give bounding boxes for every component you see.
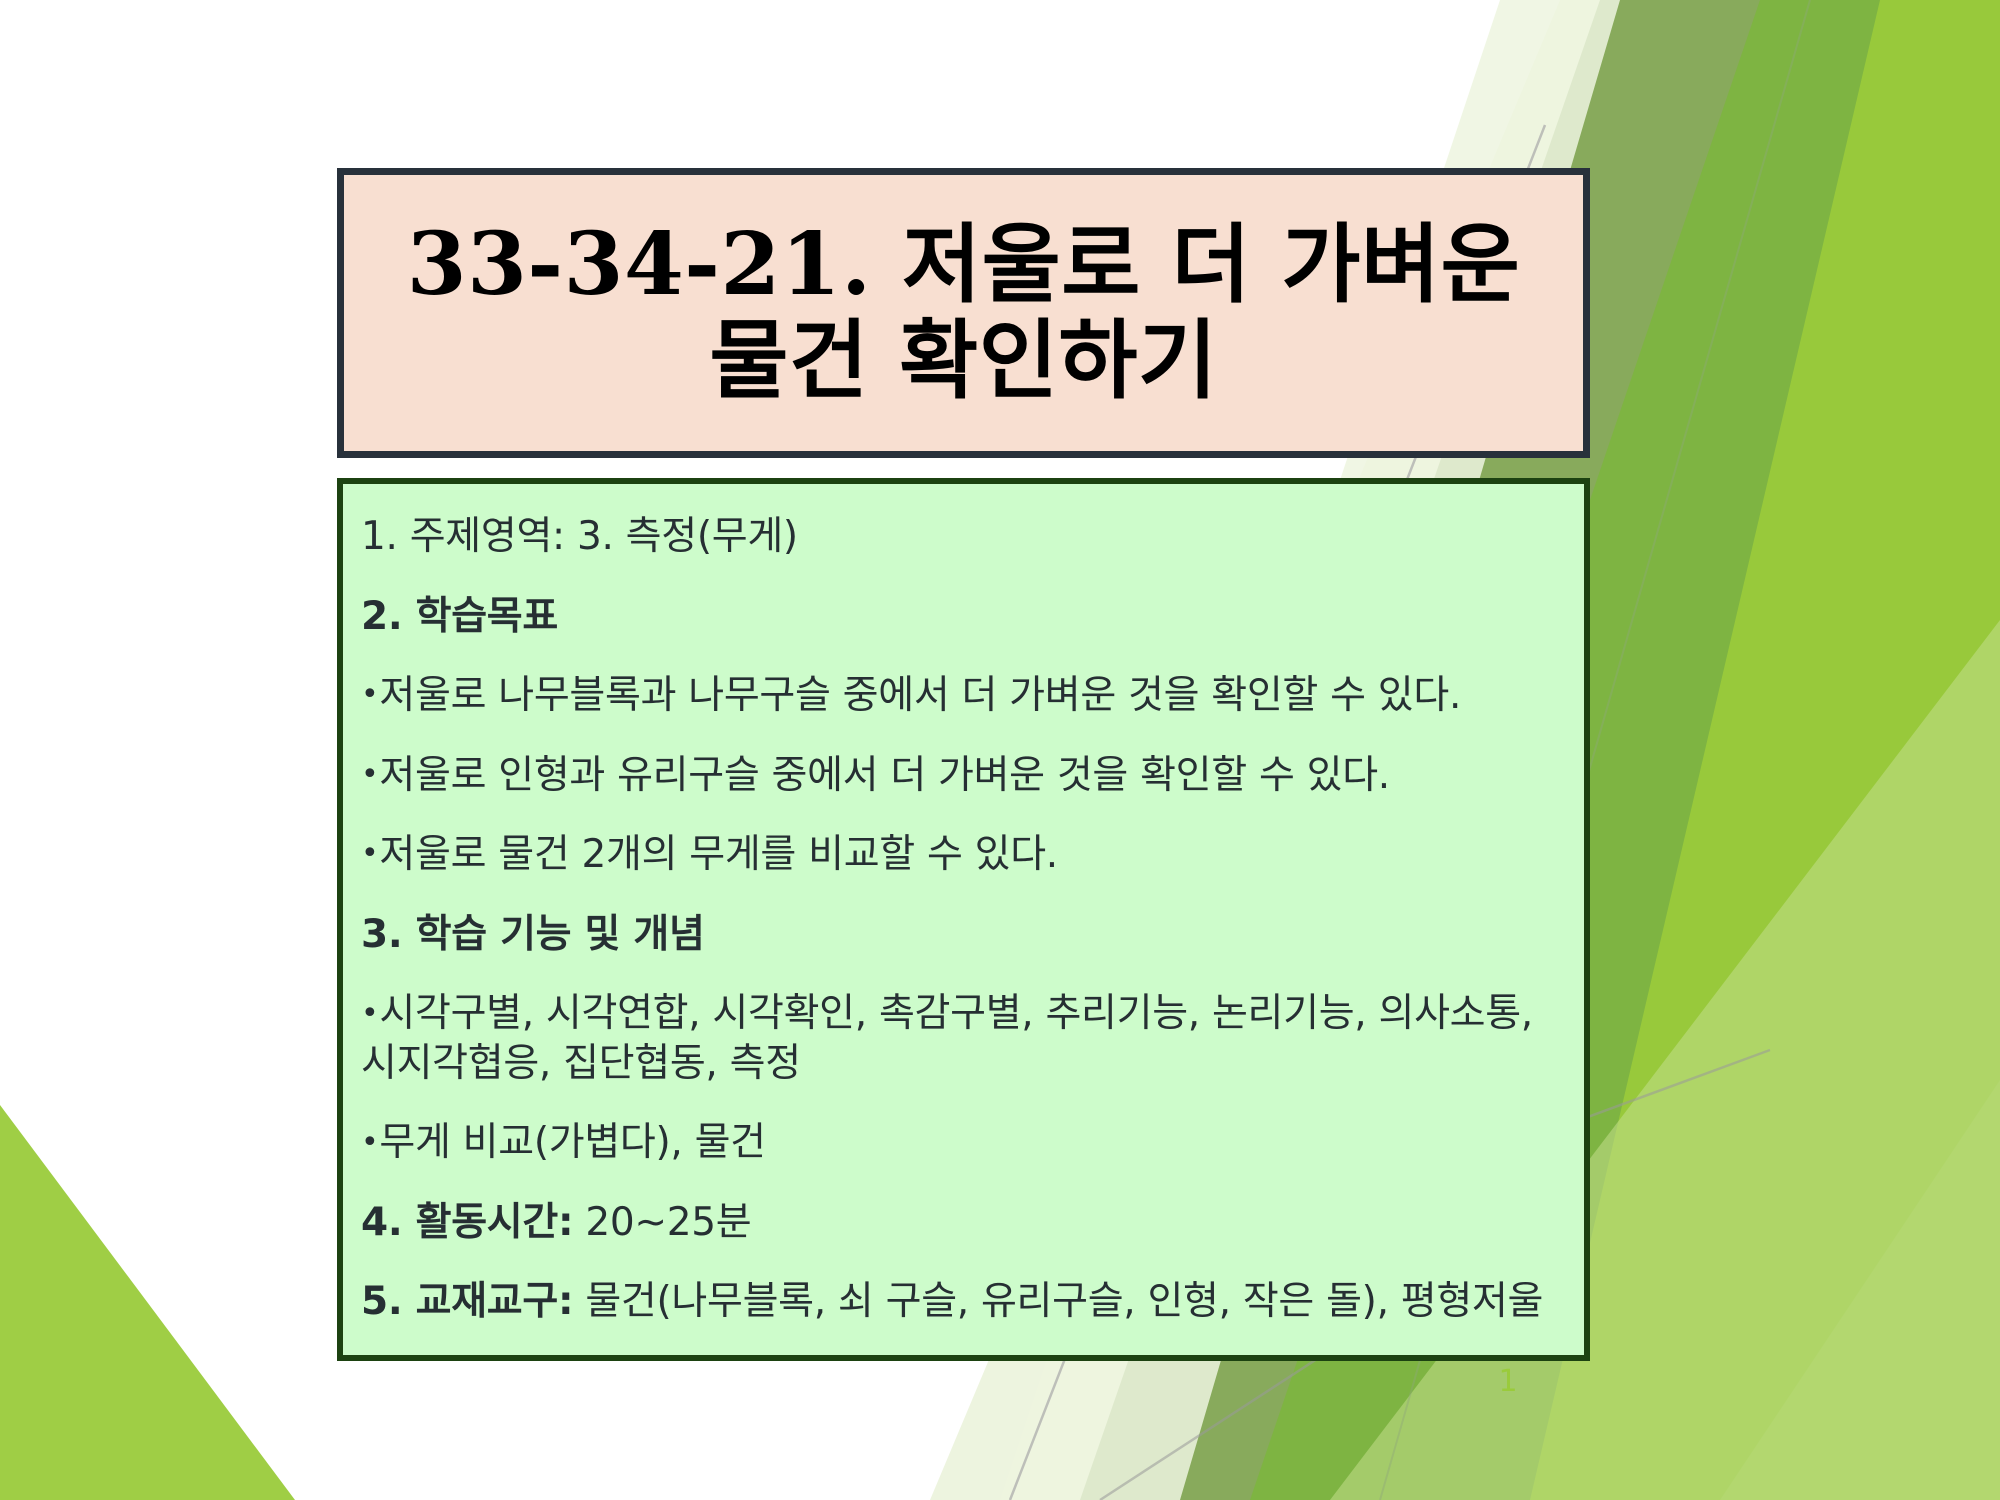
bg-shape-left-wedge (0, 1105, 295, 1500)
slide: 33-34-21. 저울로 더 가벼운 물건 확인하기 1. 주제영역: 3. … (0, 0, 2000, 1500)
skills-list-text: 시각구별, 시각연합, 시각확인, 촉감구별, 추리기능, 논리기능, 의사소통… (361, 991, 1533, 1086)
concepts-list-text: 무게 비교(가볍다), 물건 (379, 1120, 765, 1165)
content-line-skills-list: •시각구별, 시각연합, 시각확인, 촉감구별, 추리기능, 논리기능, 의사소… (361, 989, 1566, 1088)
content-line-objective-1: •저울로 나무블록과 나무구슬 중에서 더 가벼운 것을 확인할 수 있다. (361, 671, 1566, 721)
title-box: 33-34-21. 저울로 더 가벼운 물건 확인하기 (337, 168, 1590, 458)
bullet-icon: • (361, 1125, 378, 1160)
content-line-objective-3: •저울로 물건 2개의 무게를 비교할 수 있다. (361, 830, 1566, 880)
teaching-materials-value: 물건(나무블록, 쇠 구슬, 유리구슬, 인형, 작은 돌), 평형저울 (573, 1279, 1543, 1324)
subject-area-label: 1. 주제영역: (361, 514, 565, 559)
subject-area-value: 3. 측정(무게) (565, 514, 798, 559)
teaching-materials-label: 5. 교재교구: (361, 1279, 573, 1324)
content-line-skills-concepts-heading: 3. 학습 기능 및 개념 (361, 910, 1566, 960)
content-line-activity-time: 4. 활동시간: 20~25분 (361, 1198, 1566, 1248)
content-line-learning-objectives-heading: 2. 학습목표 (361, 592, 1566, 642)
learning-objectives-label: 2. 학습목표 (361, 594, 558, 639)
content-line-concepts-list: •무게 비교(가볍다), 물건 (361, 1118, 1566, 1168)
bullet-icon: • (361, 757, 378, 792)
activity-time-label: 4. 활동시간: (361, 1200, 573, 1245)
page-title: 33-34-21. 저울로 더 가벼운 물건 확인하기 (344, 217, 1583, 410)
skills-concepts-label: 3. 학습 기능 및 개념 (361, 912, 705, 957)
content-box: 1. 주제영역: 3. 측정(무게) 2. 학습목표 •저울로 나무블록과 나무… (337, 478, 1590, 1361)
bullet-icon: • (361, 836, 378, 871)
page-number: 1 (1478, 1364, 1538, 1399)
content-line-objective-2: •저울로 인형과 유리구슬 중에서 더 가벼운 것을 확인할 수 있다. (361, 751, 1566, 801)
objective-2-text: 저울로 인형과 유리구슬 중에서 더 가벼운 것을 확인할 수 있다. (379, 753, 1389, 798)
content-line-subject-area: 1. 주제영역: 3. 측정(무게) (361, 512, 1566, 562)
objective-1-text: 저울로 나무블록과 나무구슬 중에서 더 가벼운 것을 확인할 수 있다. (379, 673, 1461, 718)
content-line-teaching-materials: 5. 교재교구: 물건(나무블록, 쇠 구슬, 유리구슬, 인형, 작은 돌),… (361, 1277, 1566, 1327)
bullet-icon: • (361, 677, 378, 712)
activity-time-value: 20~25분 (573, 1200, 751, 1245)
objective-3-text: 저울로 물건 2개의 무게를 비교할 수 있다. (379, 832, 1057, 877)
bullet-icon: • (361, 996, 378, 1031)
